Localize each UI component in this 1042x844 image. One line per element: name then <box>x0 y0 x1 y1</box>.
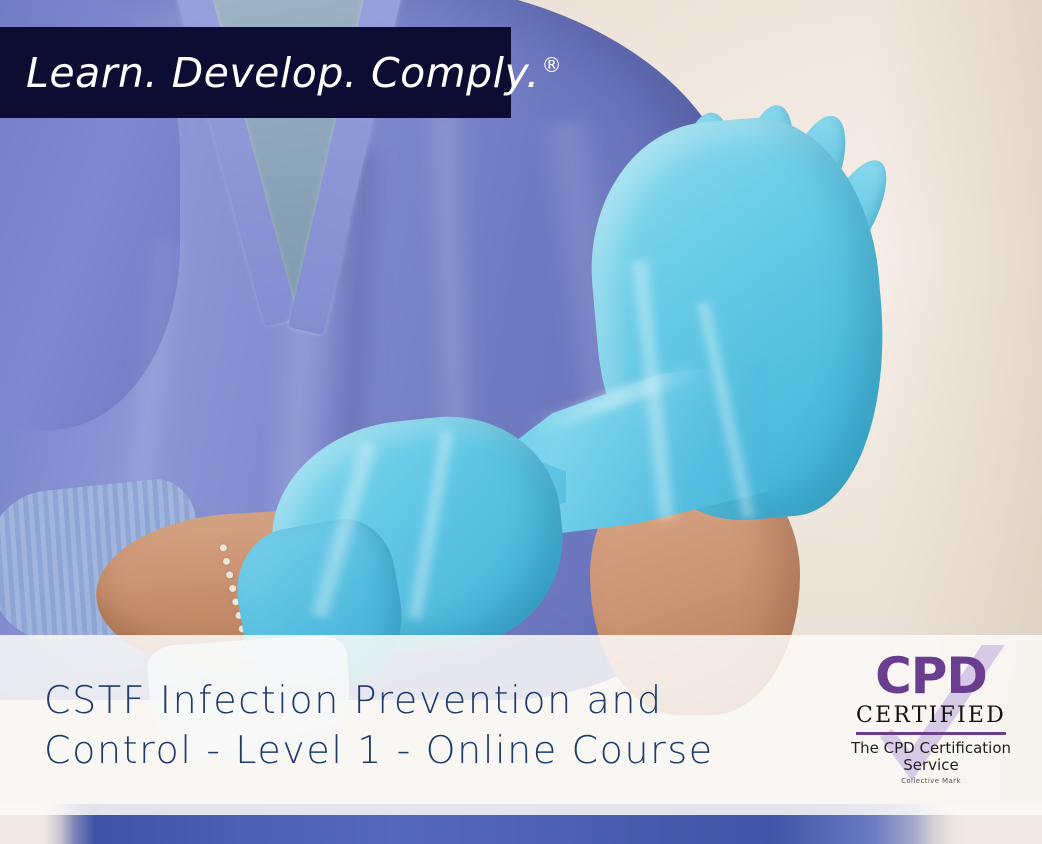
registered-trademark-icon: ® <box>542 53 563 77</box>
brand-logo-banner: Learn. Develop. Comply.® <box>0 27 511 118</box>
cpd-service-line-1: The CPD Certification <box>851 739 1011 757</box>
cpd-certified-word: CERTIFIED <box>856 705 1006 727</box>
course-title: CSTF Infection Prevention and Control - … <box>44 675 784 775</box>
course-promo-card: Learn. Develop. Comply.® CSTF Infection … <box>0 0 1042 844</box>
cpd-acronym: CPD <box>875 651 987 701</box>
cpd-collective-mark: Collective Mark <box>901 777 961 785</box>
course-title-band: CSTF Infection Prevention and Control - … <box>0 635 1042 815</box>
cpd-service-name: The CPD Certification Service <box>851 740 1011 774</box>
brand-tagline-text: Learn. Develop. Comply. <box>26 49 540 97</box>
cpd-divider-rule <box>856 732 1006 735</box>
cpd-certified-badge: CPD CERTIFIED The CPD Certification Serv… <box>836 645 1026 805</box>
cpd-service-line-2: Service <box>903 756 958 774</box>
brand-tagline: Learn. Develop. Comply.® <box>26 49 562 97</box>
